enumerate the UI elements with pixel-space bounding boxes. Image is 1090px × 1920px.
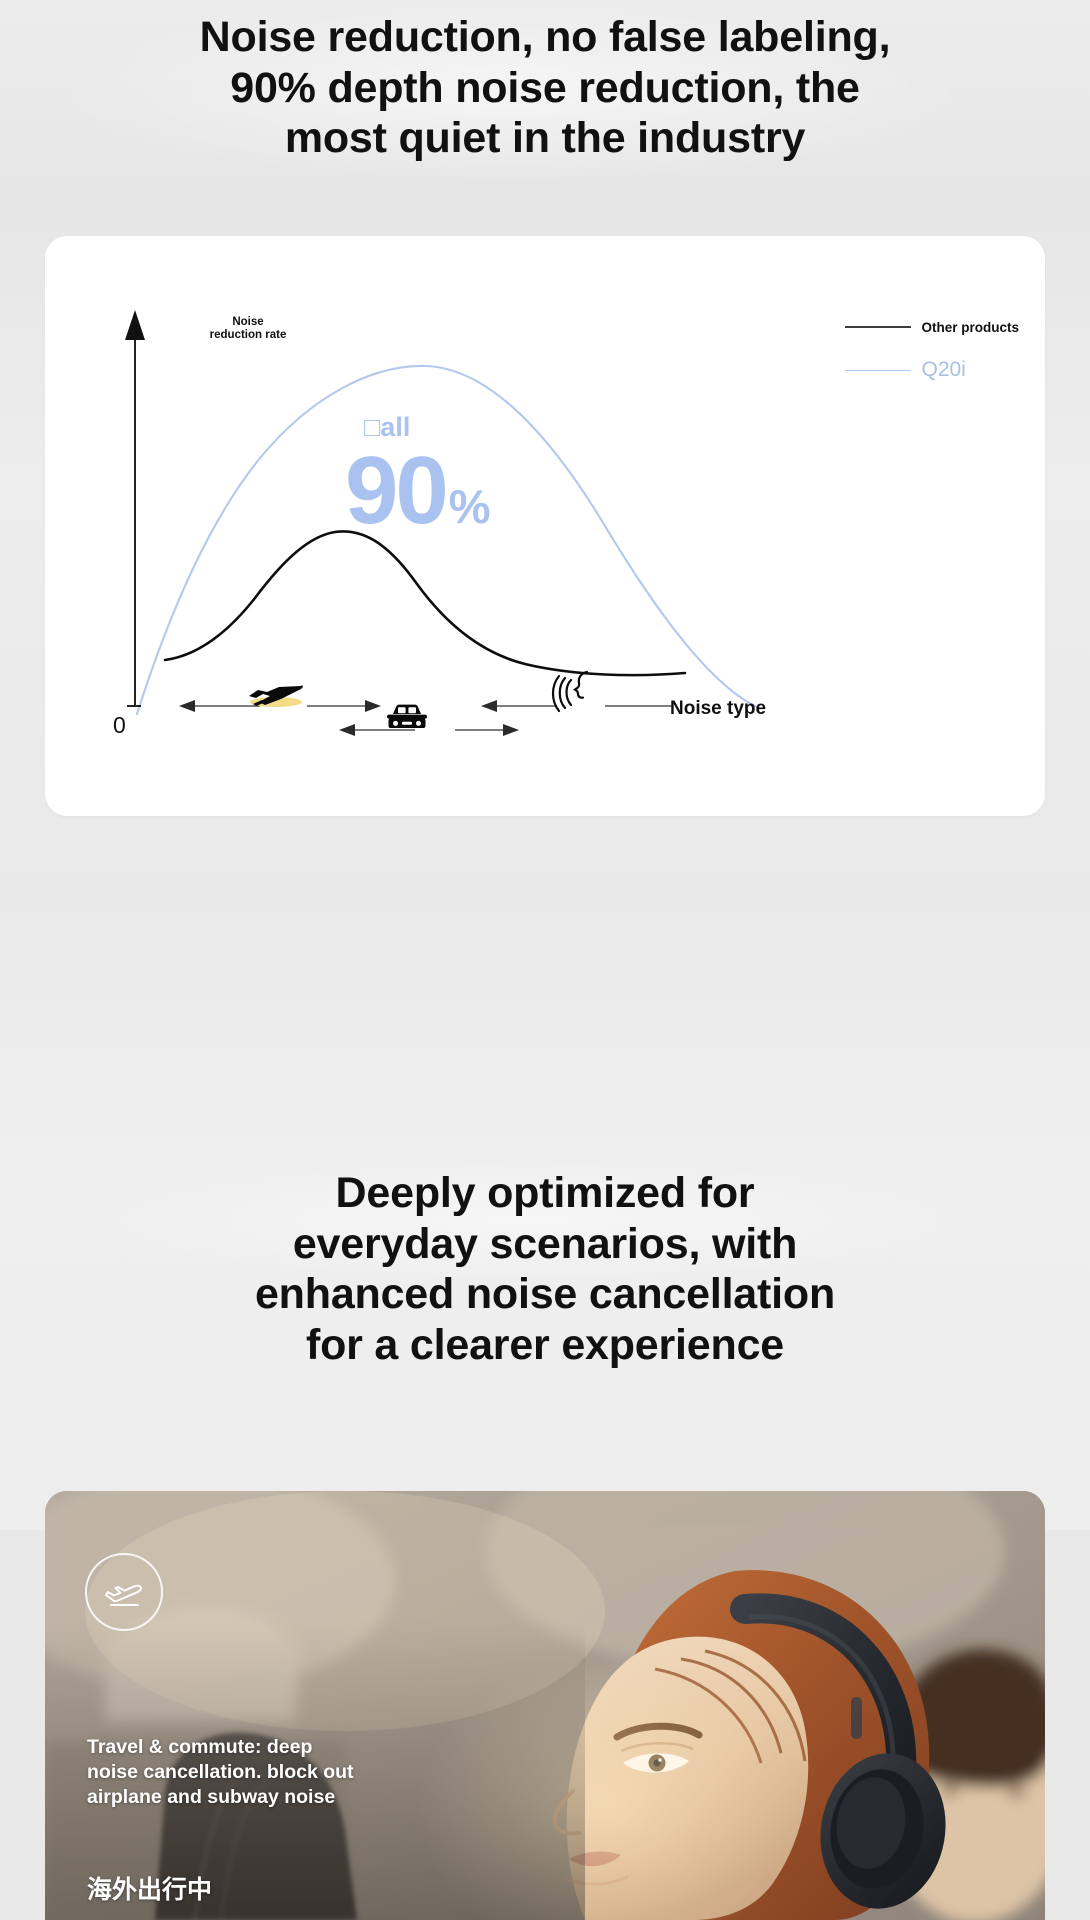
legend-item-q20i: Q20i: [845, 357, 1019, 383]
legend-label-q20i: Q20i: [921, 358, 965, 382]
airplane-takeoff-badge: [85, 1553, 163, 1631]
y-axis-label-line-2: reduction rate: [193, 329, 303, 342]
caption-line-2: noise cancellation. block out: [87, 1760, 507, 1785]
headline-2-line-1: Deeply optimized for: [0, 1168, 1090, 1219]
curve-q20i: [137, 366, 755, 714]
airplane-icon: [243, 679, 305, 718]
headline-1-line-1: Noise reduction, no false labeling,: [0, 12, 1090, 63]
legend-label-other-products: Other products: [921, 320, 1019, 335]
legend-swatch-other-products-icon: [845, 326, 911, 328]
scenario-photo-card: Travel & commute: deep noise cancellatio…: [45, 1491, 1045, 1920]
airplane-takeoff-icon: [103, 1575, 145, 1609]
y-axis-label-line-1: Noise: [193, 316, 303, 329]
y-axis-label: Noise reduction rate: [193, 316, 303, 342]
product-detail-page: Noise reduction, no false labeling, 90% …: [0, 0, 1090, 1920]
page-title-everyday-scenarios: Deeply optimized for everyday scenarios,…: [0, 1168, 1090, 1371]
x-axis-label: Noise type: [670, 698, 766, 720]
headline-1-line-3: most quiet in the industry: [0, 113, 1090, 164]
headline-1-line-2: 90% depth noise reduction, the: [0, 63, 1090, 114]
voice-icon: [547, 668, 601, 725]
curve-other-products: [165, 531, 685, 675]
headline-2-line-3: enhanced noise cancellation: [0, 1269, 1090, 1320]
photo-overlay-caption-cn: 海外出行中: [87, 1875, 507, 1919]
headline-2-line-2: everyday scenarios, with: [0, 1219, 1090, 1270]
chart-legend: Other products Q20i: [845, 314, 1019, 400]
background-band-mid: [0, 900, 1090, 1150]
y-axis: [125, 310, 145, 706]
legend-swatch-q20i-icon: [845, 370, 911, 371]
headline-2-line-4: for a clearer experience: [0, 1320, 1090, 1371]
photo-overlay-caption: Travel & commute: deep noise cancellatio…: [87, 1735, 507, 1810]
caption-line-1: Travel & commute: deep: [87, 1735, 507, 1760]
page-title-noise-reduction: Noise reduction, no false labeling, 90% …: [0, 12, 1090, 164]
caption-line-3: airplane and subway noise: [87, 1785, 507, 1810]
legend-item-other-products: Other products: [845, 314, 1019, 340]
noise-reduction-chart-card: Noise reduction rate 0 Noise type □all 9…: [45, 236, 1045, 816]
axis-origin-label: 0: [113, 712, 126, 739]
car-icon: [383, 702, 431, 737]
